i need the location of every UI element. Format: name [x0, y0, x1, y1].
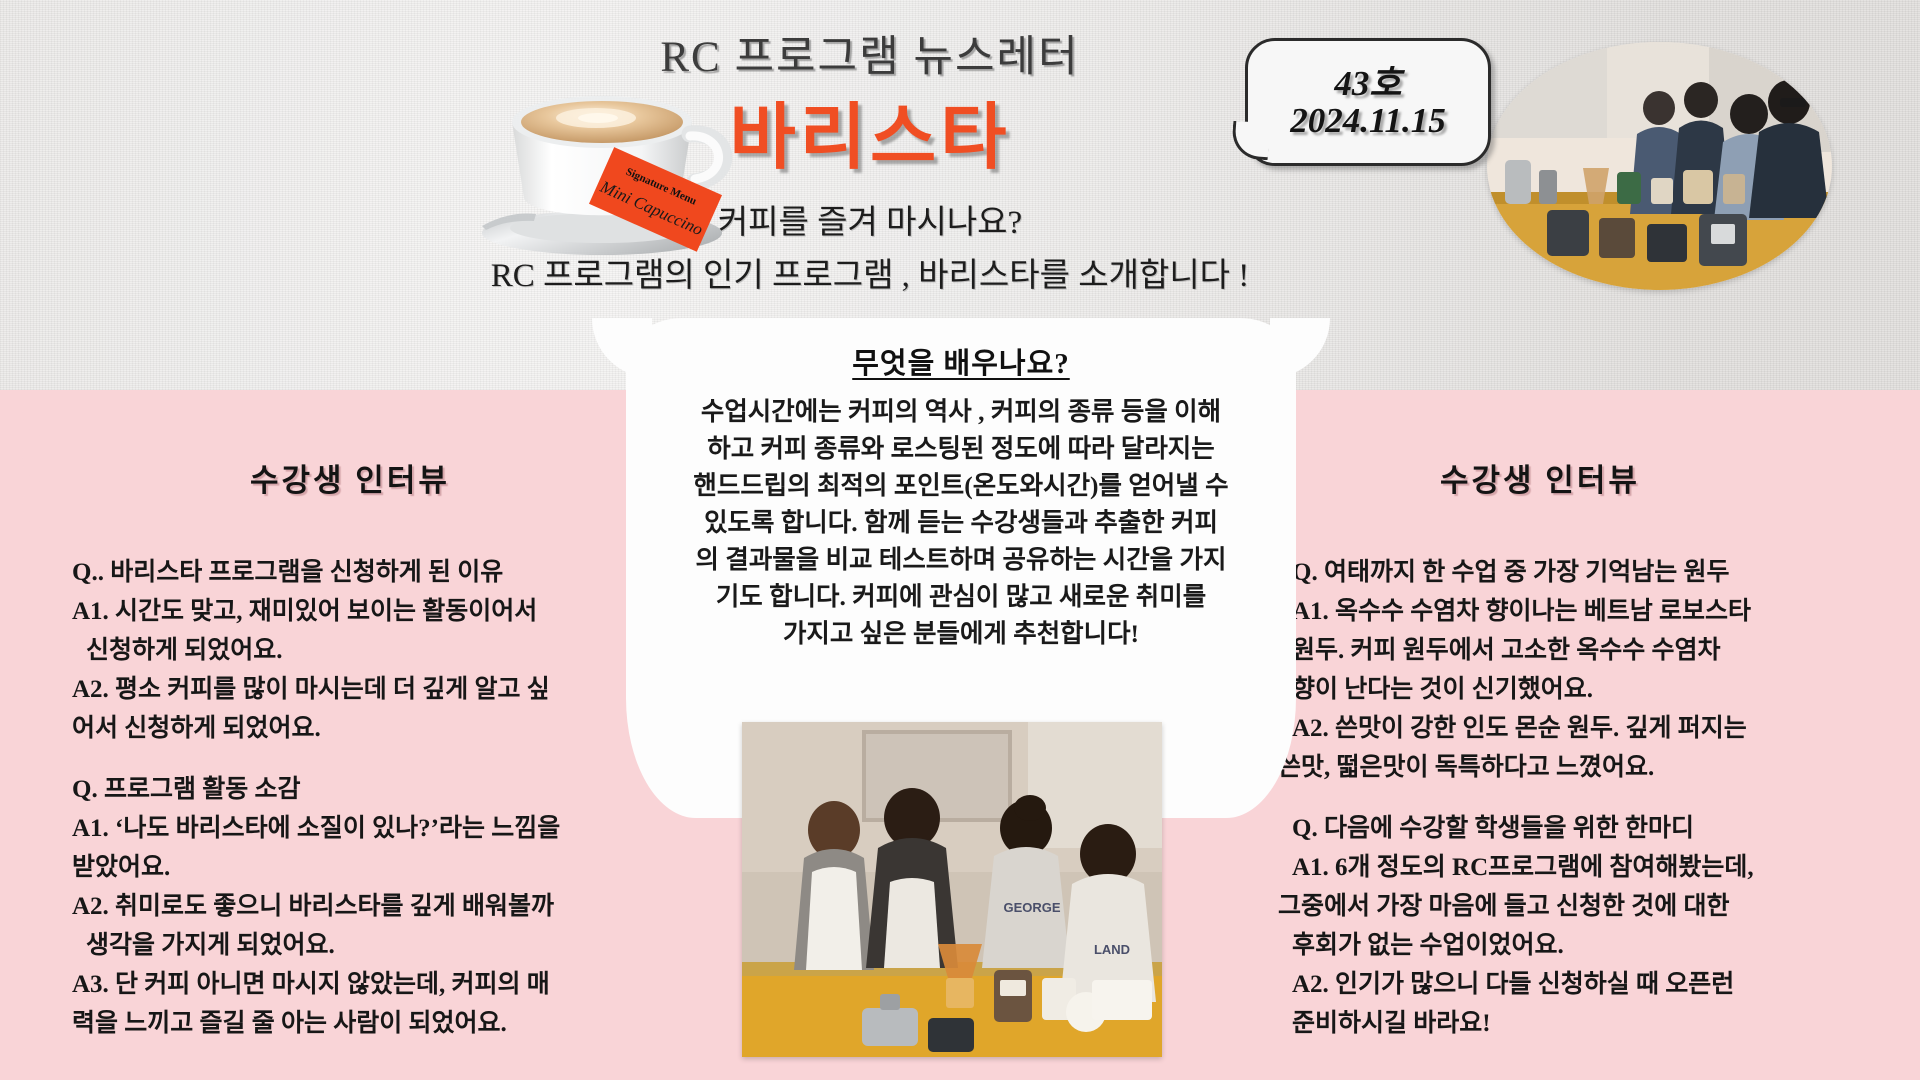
interview-line: A1. 옥수수 수염차 향이나는 베트남 로보스타: [1278, 592, 1754, 631]
interview-line: A2. 쓴맛이 강한 인도 몬순 원두. 깊게 퍼지는: [1278, 709, 1754, 748]
interview-line: Q. 프로그램 활동 소감: [72, 770, 560, 809]
interview-line: A1. 시간도 맞고, 재미있어 보이는 활동이어서: [72, 592, 560, 631]
issue-date-bubble: 43호 2024.11.15: [1245, 38, 1491, 166]
center-paragraph-line: 핸드드립의 최적의 포인트(온도와시간)를 얻어낼 수: [650, 467, 1272, 504]
issue-number: 43호: [1248, 55, 1488, 106]
interview-line: 신청하게 되었어요.: [72, 631, 560, 670]
interview-line: A3. 단 커피 아니면 마시지 않았는데, 커피의 매: [72, 965, 560, 1004]
issue-date: 2024.11.15: [1248, 101, 1488, 141]
right-column-heading: 수강생 인터뷰: [1440, 455, 1640, 500]
center-paragraph-line: 가지고 싶은 분들에게 추천합니다!: [650, 615, 1272, 652]
interview-line: 쓴맛, 떫은맛이 독특하다고 느꼈어요.: [1278, 748, 1754, 787]
paragraph-gap: [72, 748, 560, 770]
svg-text:GEORGE: GEORGE: [1003, 900, 1060, 915]
center-box-paragraph: 수업시간에는 커피의 역사 , 커피의 종류 등을 이해 하고 커피 종류와 로…: [650, 393, 1272, 652]
center-paragraph-line: 하고 커피 종류와 로스팅된 정도에 따라 달라지는: [650, 430, 1272, 467]
interview-line: A1. 6개 정도의 RC프로그램에 참여해봤는데,: [1278, 848, 1754, 887]
interview-line: 받았어요.: [72, 848, 560, 887]
scalloped-edge-right: [1874, 390, 1920, 1080]
students-handdrip-photo: GEORGE LAND: [742, 722, 1162, 1057]
interview-line: 향이 난다는 것이 신기했어요.: [1278, 670, 1754, 709]
interview-line: A2. 평소 커피를 많이 마시는데 더 깊게 알고 싶: [72, 670, 560, 709]
interview-line: A2. 취미로도 좋으니 바리스타를 깊게 배워볼까: [72, 887, 560, 926]
center-paragraph-line: 수업시간에는 커피의 역사 , 커피의 종류 등을 이해: [650, 393, 1272, 430]
interview-line: A1. ‘나도 바리스타에 소질이 있나?’라는 느낌을: [72, 809, 560, 848]
paragraph-gap: [1278, 787, 1754, 809]
right-column-body: Q. 여태까지 한 수업 중 가장 기억남는 원두 A1. 옥수수 수염차 향이…: [1278, 553, 1754, 1043]
scalloped-edge-left: [0, 390, 46, 1080]
interview-line: 생각을 가지게 되었어요.: [72, 926, 560, 965]
interview-line: 후회가 없는 수업이었어요.: [1278, 926, 1754, 965]
center-paragraph-line: 있도록 합니다. 함께 듣는 수강생들과 추출한 커피: [650, 504, 1272, 541]
coffee-cup-photo: Signature Menu Mini Capuccino: [452, 58, 762, 258]
left-column-heading: 수강생 인터뷰: [250, 455, 450, 500]
students-brewing-circle-photo: [1487, 42, 1832, 290]
interview-line: 그중에서 가장 마음에 들고 신청한 것에 대한: [1278, 887, 1754, 926]
center-paragraph-line: 의 결과물을 비교 테스트하며 공유하는 시간을 가지: [650, 541, 1272, 578]
interview-line: 력을 느끼고 즐길 줄 아는 사람이 되었어요.: [72, 1004, 560, 1043]
left-column-body: Q.. 바리스타 프로그램을 신청하게 된 이유 A1. 시간도 맞고, 재미있…: [72, 553, 560, 1043]
interview-line: Q.. 바리스타 프로그램을 신청하게 된 이유: [72, 553, 560, 592]
interview-line: Q. 여태까지 한 수업 중 가장 기억남는 원두: [1278, 553, 1754, 592]
interview-line: 어서 신청하게 되었어요.: [72, 709, 560, 748]
center-paragraph-line: 기도 합니다. 커피에 관심이 많고 새로운 취미를: [650, 578, 1272, 615]
interview-line: 준비하시길 바라요!: [1278, 1004, 1754, 1043]
center-box-heading: 무엇을 배우나요?: [626, 340, 1296, 382]
interview-line: Q. 다음에 수강할 학생들을 위한 한마디: [1278, 809, 1754, 848]
interview-line: 원두. 커피 원두에서 고소한 옥수수 수염차: [1278, 631, 1754, 670]
svg-text:LAND: LAND: [1094, 942, 1130, 957]
interview-line: A2. 인기가 많으니 다들 신청하실 때 오픈런: [1278, 965, 1754, 1004]
